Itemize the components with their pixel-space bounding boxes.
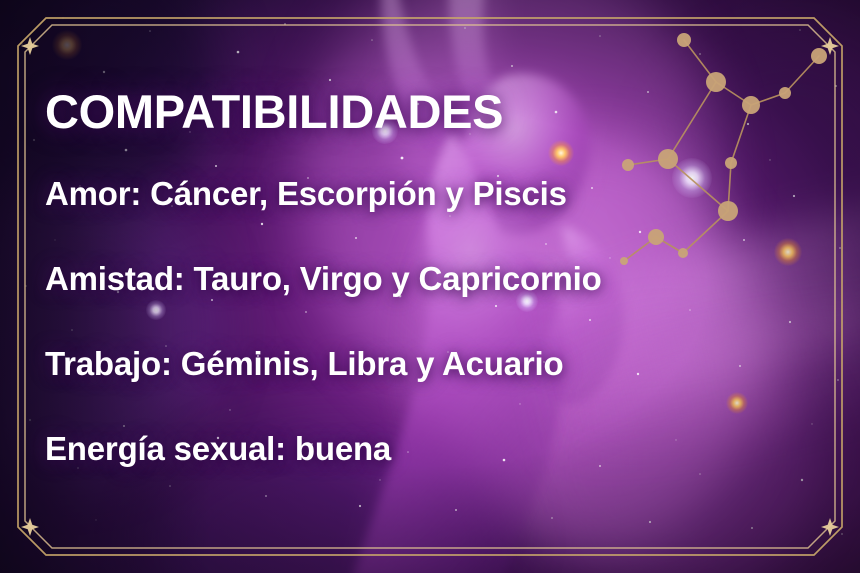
- horoscope-compatibility-card: COMPATIBILIDADES Amor: Cáncer, Escorpión…: [0, 0, 860, 573]
- list-item-amistad: Amistad: Tauro, Virgo y Capricornio: [45, 262, 745, 295]
- list-item-energia: Energía sexual: buena: [45, 432, 745, 465]
- list-item-amor: Amor: Cáncer, Escorpión y Piscis: [45, 177, 745, 210]
- page-title: COMPATIBILIDADES: [45, 88, 745, 135]
- content-block: COMPATIBILIDADES Amor: Cáncer, Escorpión…: [45, 88, 745, 465]
- compatibility-list: Amor: Cáncer, Escorpión y Piscis Amistad…: [45, 177, 745, 465]
- list-item-trabajo: Trabajo: Géminis, Libra y Acuario: [45, 347, 745, 380]
